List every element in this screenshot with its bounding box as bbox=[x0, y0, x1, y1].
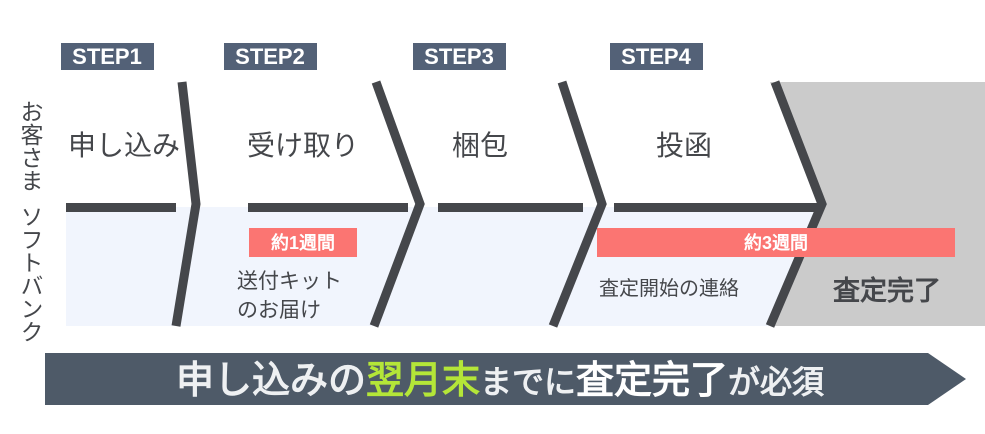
step-action-4: 投函 bbox=[656, 130, 712, 161]
banner-text-before: 申し込みの bbox=[176, 360, 366, 402]
banner-text-after-2: が必須 bbox=[728, 364, 825, 400]
banner-text-highlight: 翌月末 bbox=[366, 360, 480, 402]
provider-note-step2-line2: のお届け bbox=[237, 299, 321, 322]
duration-label-step2: 約1週間 bbox=[271, 232, 335, 253]
lane-divider-seg-1 bbox=[66, 203, 176, 212]
final-state-label: 査定完了 bbox=[833, 275, 941, 306]
flow-svg: 約1週間 約3週間 STEP1 STEP2 STEP3 STEP4 お客さま ソ… bbox=[0, 0, 985, 434]
lane-divider-seg-3 bbox=[438, 203, 583, 212]
banner-text-after-1: までに bbox=[480, 364, 576, 400]
bottom-banner-text: 申し込みの翌月末までに査定完了が必須 bbox=[176, 359, 825, 402]
step-badge-label-3: STEP3 bbox=[424, 44, 494, 69]
step-action-2: 受け取り bbox=[247, 130, 359, 161]
banner-text-emphasis: 査定完了 bbox=[576, 359, 728, 402]
lane-label-provider: ソフトバンク bbox=[17, 205, 43, 343]
step-action-3: 梱包 bbox=[452, 130, 508, 161]
lane-label-customer: お客さま bbox=[17, 100, 44, 192]
process-flow-diagram: 約1週間 約3週間 STEP1 STEP2 STEP3 STEP4 お客さま ソ… bbox=[0, 0, 985, 434]
step-action-1: 申し込み bbox=[68, 130, 180, 161]
step-badge-label-4: STEP4 bbox=[621, 44, 691, 69]
provider-note-step4: 査定開始の連絡 bbox=[599, 277, 739, 300]
provider-note-step2-line1: 送付キット bbox=[237, 270, 342, 293]
lane-divider-seg-4 bbox=[614, 203, 819, 212]
step-badge-label-2: STEP2 bbox=[235, 44, 305, 69]
step-badge-label-1: STEP1 bbox=[72, 44, 142, 69]
duration-label-step4: 約3週間 bbox=[744, 232, 808, 253]
lane-divider-seg-2 bbox=[248, 203, 408, 212]
